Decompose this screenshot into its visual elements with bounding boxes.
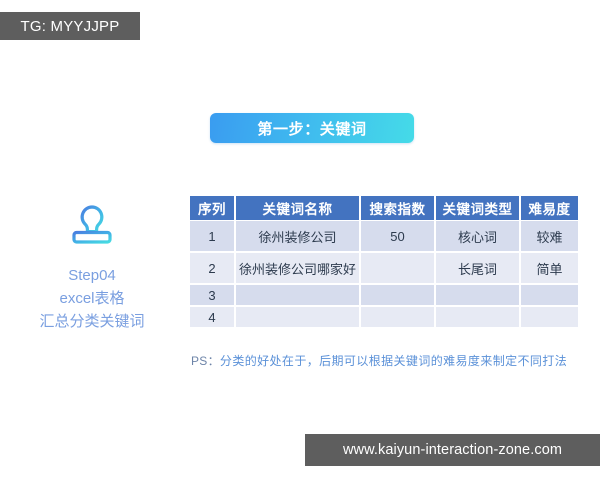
side-line-step: Step04 <box>8 264 176 287</box>
cell-difficulty: 较难 <box>520 221 578 253</box>
cell-name: 徐州装修公司哪家好 <box>235 252 360 284</box>
cell-index <box>360 284 435 306</box>
site-watermark-badge: www.kaiyun-interaction-zone.com <box>305 434 600 466</box>
column-header-difficulty: 难易度 <box>520 196 578 221</box>
cell-index <box>360 252 435 284</box>
step-side-block: Step04 excel表格 汇总分类关键词 <box>8 196 176 333</box>
column-header-seq: 序列 <box>190 196 235 221</box>
step-title-label: 第一步：关键词 <box>257 118 366 139</box>
site-watermark-label: www.kaiyun-interaction-zone.com <box>343 442 562 458</box>
cell-name <box>235 284 360 306</box>
cell-seq: 1 <box>190 221 235 253</box>
step-title-banner: 第一步：关键词 <box>210 113 414 143</box>
cell-type: 核心词 <box>435 221 520 253</box>
cell-index <box>360 306 435 328</box>
cell-name <box>235 306 360 328</box>
table-row: 2 徐州装修公司哪家好 长尾词 简单 <box>190 252 578 284</box>
table-row: 1 徐州装修公司 50 核心词 较难 <box>190 221 578 253</box>
cell-name: 徐州装修公司 <box>235 221 360 253</box>
tg-watermark-label: TG: MYYJJPP <box>21 18 120 35</box>
cell-seq: 2 <box>190 252 235 284</box>
stamp-icon <box>8 196 176 258</box>
tg-watermark-badge: TG: MYYJJPP <box>0 12 140 40</box>
cell-seq: 3 <box>190 284 235 306</box>
cell-seq: 4 <box>190 306 235 328</box>
cell-type: 长尾词 <box>435 252 520 284</box>
column-header-name: 关键词名称 <box>235 196 360 221</box>
cell-difficulty: 简单 <box>520 252 578 284</box>
cell-difficulty <box>520 284 578 306</box>
table-row: 3 <box>190 284 578 306</box>
ps-note-text: 分类的好处在于，后期可以根据关键词的难易度来制定不同打法 <box>220 354 567 368</box>
cell-difficulty <box>520 306 578 328</box>
table-row: 4 <box>190 306 578 328</box>
side-line-excel: excel表格 <box>8 287 176 310</box>
keyword-table: 序列 关键词名称 搜索指数 关键词类型 难易度 1 徐州装修公司 50 核心词 … <box>190 196 578 329</box>
table-header-row: 序列 关键词名称 搜索指数 关键词类型 难易度 <box>190 196 578 221</box>
ps-note: PS：分类的好处在于，后期可以根据关键词的难易度来制定不同打法 <box>191 352 567 369</box>
column-header-type: 关键词类型 <box>435 196 520 221</box>
cell-type <box>435 306 520 328</box>
ps-note-prefix: PS： <box>191 354 220 368</box>
column-header-index: 搜索指数 <box>360 196 435 221</box>
cell-type <box>435 284 520 306</box>
side-line-summary: 汇总分类关键词 <box>8 310 176 333</box>
cell-index: 50 <box>360 221 435 253</box>
